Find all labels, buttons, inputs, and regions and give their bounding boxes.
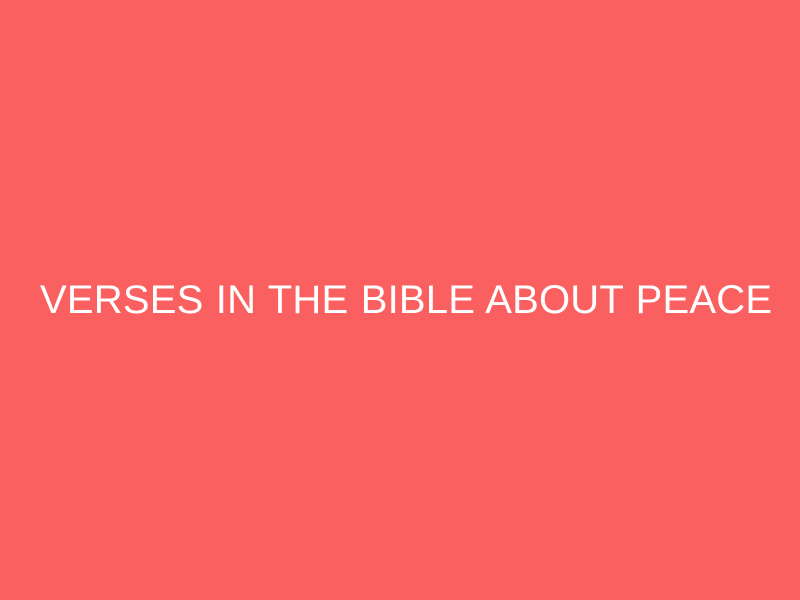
title-block: VERSES IN THE BIBLE ABOUT PEACE [0,276,800,324]
page-title: VERSES IN THE BIBLE ABOUT PEACE [40,276,760,324]
placeholder-image-card: VERSES IN THE BIBLE ABOUT PEACE [0,0,800,600]
